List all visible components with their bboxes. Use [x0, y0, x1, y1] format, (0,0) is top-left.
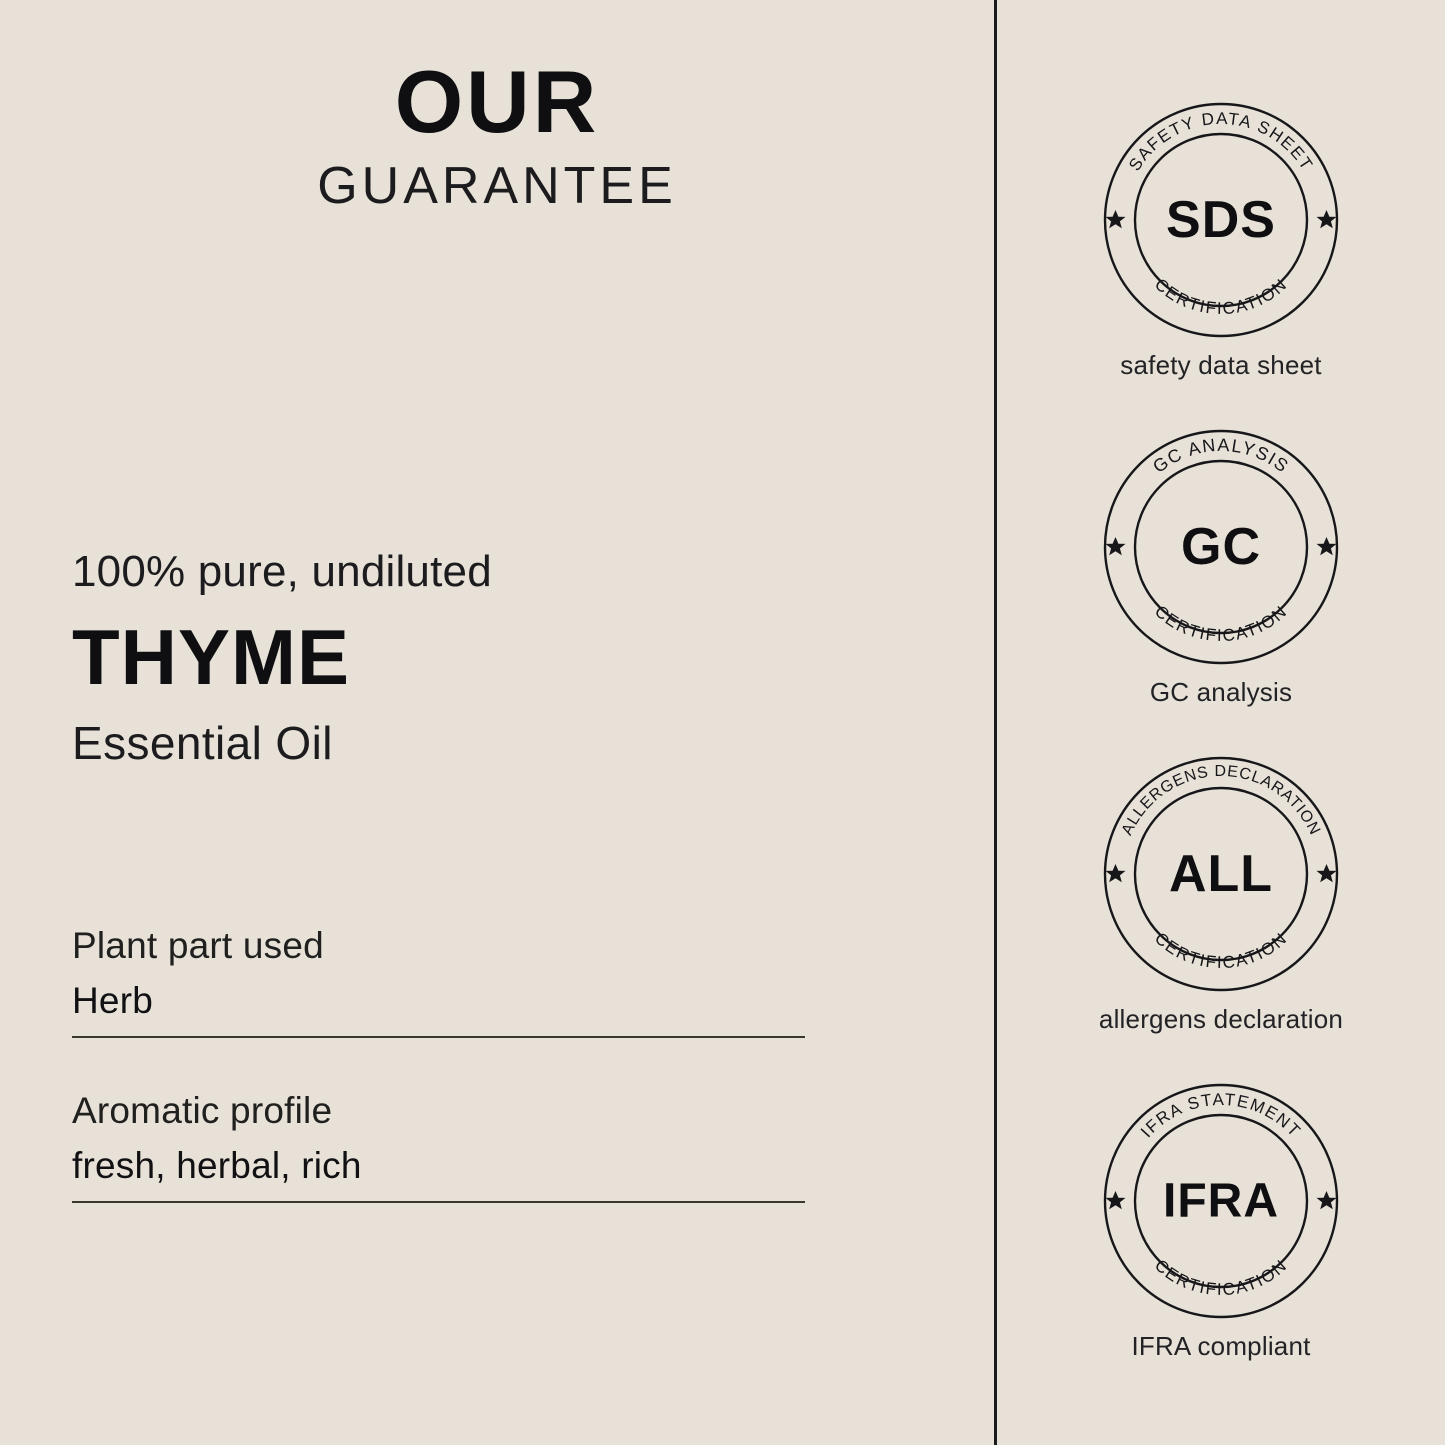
badge-caption: GC analysis [997, 677, 1445, 708]
list-item: GC ANALYSIS CERTIFICATION GC GC analysis [997, 427, 1445, 708]
spec-row: Aromatic profile fresh, herbal, rich [72, 1090, 805, 1203]
spec-label: Plant part used [72, 925, 805, 968]
list-item: IFRA STATEMENT CERTIFICATION IFRA IFRA c… [997, 1081, 1445, 1362]
left-panel: OUR GUARANTEE 100% pure, undiluted THYME… [0, 0, 994, 1445]
seal-bottom-text: CERTIFICATION [1151, 275, 1291, 319]
svg-text:CERTIFICATION: CERTIFICATION [1151, 929, 1291, 973]
certification-seal-icon: IFRA STATEMENT CERTIFICATION IFRA [1101, 1081, 1341, 1321]
product-name: THYME [72, 618, 872, 696]
list-item: ALLERGENS DECLARATION CERTIFICATION ALL … [997, 754, 1445, 1035]
svg-text:CERTIFICATION: CERTIFICATION [1151, 602, 1291, 646]
product-block: 100% pure, undiluted THYME Essential Oil [72, 548, 872, 766]
page-title-line1: OUR [0, 58, 994, 146]
spec-divider [72, 1201, 805, 1203]
seal-abbreviation: SDS [1166, 191, 1276, 249]
svg-text:CERTIFICATION: CERTIFICATION [1151, 1256, 1291, 1300]
seal-bottom-text: CERTIFICATION [1151, 602, 1291, 646]
badge-caption: allergens declaration [997, 1004, 1445, 1035]
product-purity: 100% pure, undiluted [72, 548, 872, 596]
page-title-line2: GUARANTEE [0, 160, 994, 212]
spec-row: Plant part used Herb [72, 925, 805, 1038]
product-type: Essential Oil [72, 720, 872, 766]
certification-badge-list: SAFETY DATA SHEET CERTIFICATION SDS safe… [997, 100, 1445, 1408]
certification-seal-icon: GC ANALYSIS CERTIFICATION GC [1101, 427, 1341, 667]
guarantee-infographic: OUR GUARANTEE 100% pure, undiluted THYME… [0, 0, 1445, 1445]
spec-list: Plant part used Herb Aromatic profile fr… [72, 925, 805, 1203]
spec-value: Herb [72, 980, 805, 1023]
seal-abbreviation: IFRA [1163, 1175, 1279, 1228]
svg-text:CERTIFICATION: CERTIFICATION [1151, 275, 1291, 319]
seal-bottom-text: CERTIFICATION [1151, 1256, 1291, 1300]
certification-seal-icon: SAFETY DATA SHEET CERTIFICATION SDS [1101, 100, 1341, 340]
seal-bottom-text: CERTIFICATION [1151, 929, 1291, 973]
badge-caption: safety data sheet [997, 350, 1445, 381]
seal-abbreviation: GC [1181, 518, 1261, 576]
page-title: OUR GUARANTEE [0, 58, 994, 212]
seal-abbreviation: ALL [1169, 845, 1273, 903]
spec-label: Aromatic profile [72, 1090, 805, 1133]
list-item: SAFETY DATA SHEET CERTIFICATION SDS safe… [997, 100, 1445, 381]
spec-divider [72, 1036, 805, 1038]
right-panel: SAFETY DATA SHEET CERTIFICATION SDS safe… [997, 0, 1445, 1445]
certification-seal-icon: ALLERGENS DECLARATION CERTIFICATION ALL [1101, 754, 1341, 994]
badge-caption: IFRA compliant [997, 1331, 1445, 1362]
spec-value: fresh, herbal, rich [72, 1145, 805, 1188]
